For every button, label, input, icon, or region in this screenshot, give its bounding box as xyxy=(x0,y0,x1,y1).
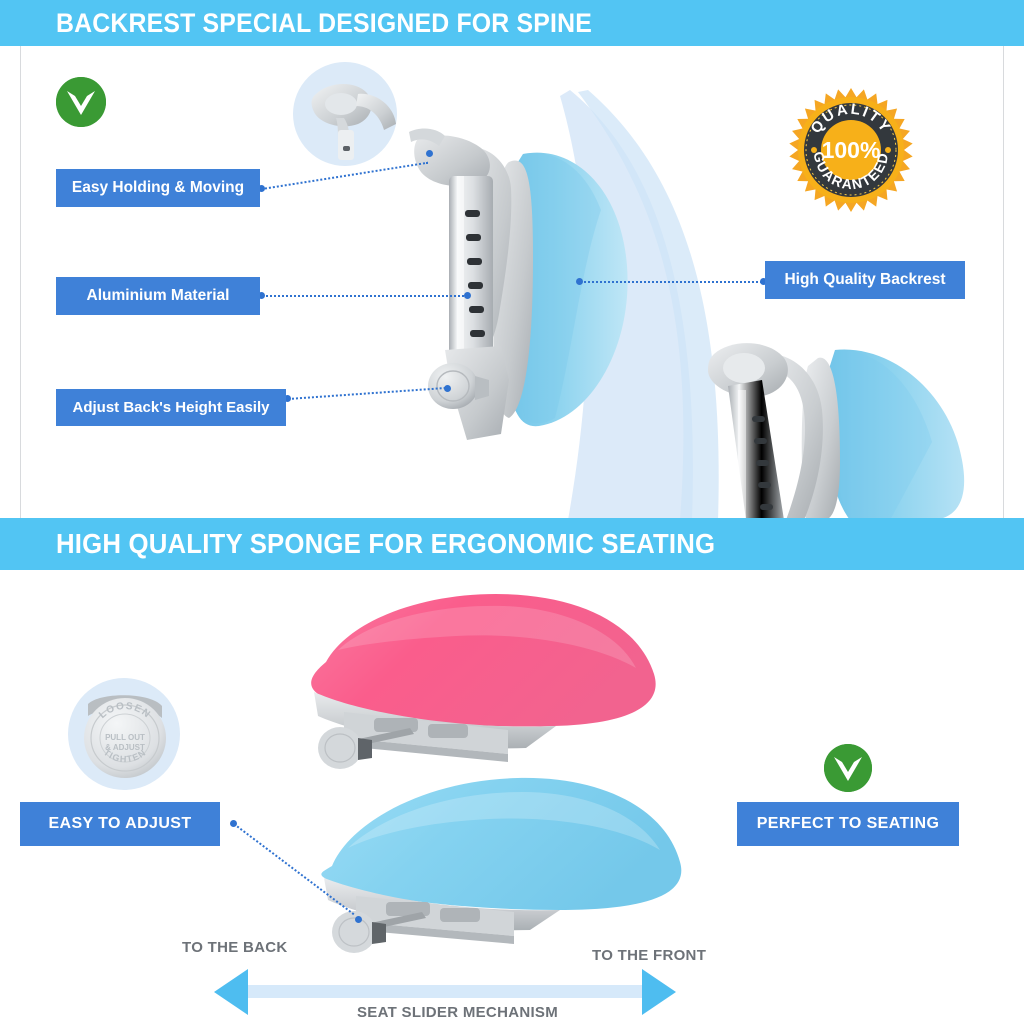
section-header-backrest: BACKREST SPECIAL DESIGNED FOR SPINE xyxy=(0,0,1024,46)
callout-perfect-to-seating-label: PERFECT TO SEATING xyxy=(757,816,940,833)
callout-easy-to-adjust-label: EASY TO ADJUST xyxy=(48,816,191,833)
right-rule xyxy=(1003,46,1004,518)
green-check-icon-seating xyxy=(824,744,872,792)
section-header-sponge-title: HIGH QUALITY SPONGE FOR ERGONOMIC SEATIN… xyxy=(56,528,715,560)
quality-guarantee-seal-icon: QUALITY GUARANTEED 100% xyxy=(789,88,913,212)
callout-high-quality[interactable]: High Quality Backrest xyxy=(765,261,965,299)
slider-back-label: TO THE BACK xyxy=(182,939,288,956)
leader-high-quality xyxy=(580,281,766,283)
leader-dot-high-quality-start xyxy=(576,278,583,285)
handle-loop-detail-icon xyxy=(296,66,406,176)
backrest-secondary-image xyxy=(700,332,990,520)
leader-dot-adjust-height xyxy=(444,385,451,392)
adjust-knob-icon: LOOSEN TIGHTEN PULL OUT & ADJUST xyxy=(72,682,180,790)
callout-easy-holding[interactable]: Easy Holding & Moving xyxy=(56,169,260,207)
knob-text-pull-out: PULL OUT xyxy=(105,733,145,742)
knob-text-and-adjust: & ADJUST xyxy=(105,743,145,752)
green-check-icon xyxy=(56,77,106,127)
leader-aluminium xyxy=(262,295,468,297)
callout-adjust-height-label: Adjust Back's Height Easily xyxy=(73,400,270,416)
callout-easy-to-adjust[interactable]: EASY TO ADJUST xyxy=(20,802,220,846)
leader-dot-easy-holding xyxy=(426,150,433,157)
callout-perfect-to-seating[interactable]: PERFECT TO SEATING xyxy=(737,802,959,846)
callout-high-quality-label: High Quality Backrest xyxy=(784,272,945,288)
backrest-assembly-image xyxy=(405,118,665,448)
seal-center-text: 100% xyxy=(822,137,881,163)
section-header-backrest-title: BACKREST SPECIAL DESIGNED FOR SPINE xyxy=(56,8,592,39)
arrow-left-icon xyxy=(214,969,248,1015)
slider-track xyxy=(248,985,658,998)
pink-seat-image xyxy=(278,588,688,768)
section-header-sponge: HIGH QUALITY SPONGE FOR ERGONOMIC SEATIN… xyxy=(0,518,1024,570)
left-rule xyxy=(20,46,21,518)
arrow-right-icon xyxy=(642,969,676,1015)
callout-aluminium[interactable]: Aluminium Material xyxy=(56,277,260,315)
infographic-page: BACKREST SPECIAL DESIGNED FOR SPINE xyxy=(0,0,1024,1024)
callout-aluminium-label: Aluminium Material xyxy=(87,288,230,304)
leader-dot-aluminium xyxy=(464,292,471,299)
blue-seat-image xyxy=(298,770,708,950)
callout-easy-holding-label: Easy Holding & Moving xyxy=(72,180,244,196)
leader-dot-easy-to-adjust-start xyxy=(230,820,237,827)
callout-adjust-height[interactable]: Adjust Back's Height Easily xyxy=(56,389,286,426)
slider-front-label: TO THE FRONT xyxy=(592,947,706,964)
leader-dot-easy-to-adjust xyxy=(355,916,362,923)
slider-caption: SEAT SLIDER MECHANISM xyxy=(357,1004,558,1021)
